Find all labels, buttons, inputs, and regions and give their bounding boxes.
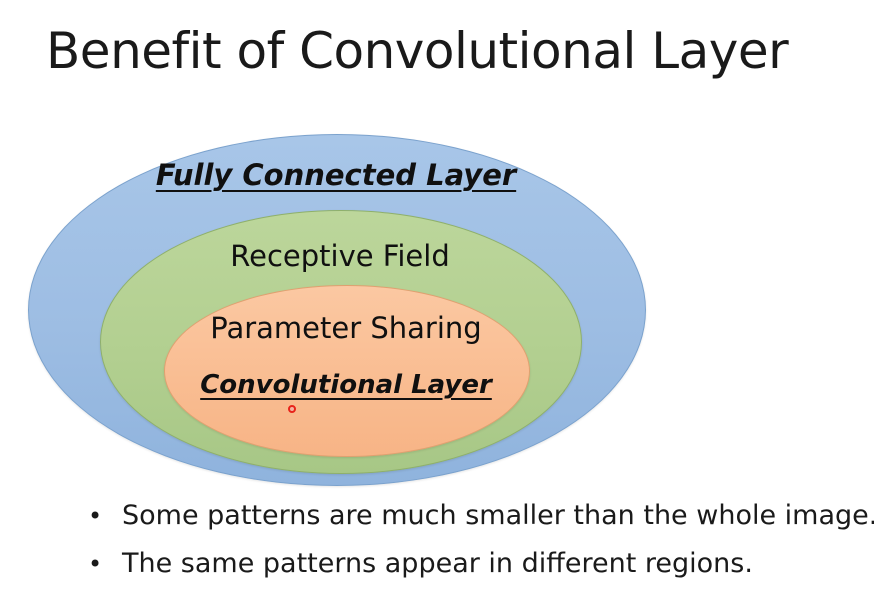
bullet-list: • Some patterns are much smaller than th… xyxy=(88,500,868,596)
slide-canvas: Benefit of Convolutional Layer Fully Con… xyxy=(0,0,874,616)
bullet-text: The same patterns appear in different re… xyxy=(122,548,753,579)
label-convolutional-layer: Convolutional Layer xyxy=(166,370,526,400)
label-receptive-field: Receptive Field xyxy=(106,239,574,273)
label-parameter-sharing: Parameter Sharing xyxy=(166,311,526,345)
bullet-point-icon: • xyxy=(88,552,122,576)
red-dot-marker-icon xyxy=(288,405,296,413)
label-fully-connected-layer: Fully Connected Layer xyxy=(36,158,636,192)
bullet-point-icon: • xyxy=(88,504,122,528)
bullet-text: Some patterns are much smaller than the … xyxy=(122,500,874,531)
list-item: • Some patterns are much smaller than th… xyxy=(88,500,868,531)
nested-ellipse-diagram: Fully Connected Layer Receptive Field Pa… xyxy=(0,0,874,500)
list-item: • The same patterns appear in different … xyxy=(88,548,868,579)
